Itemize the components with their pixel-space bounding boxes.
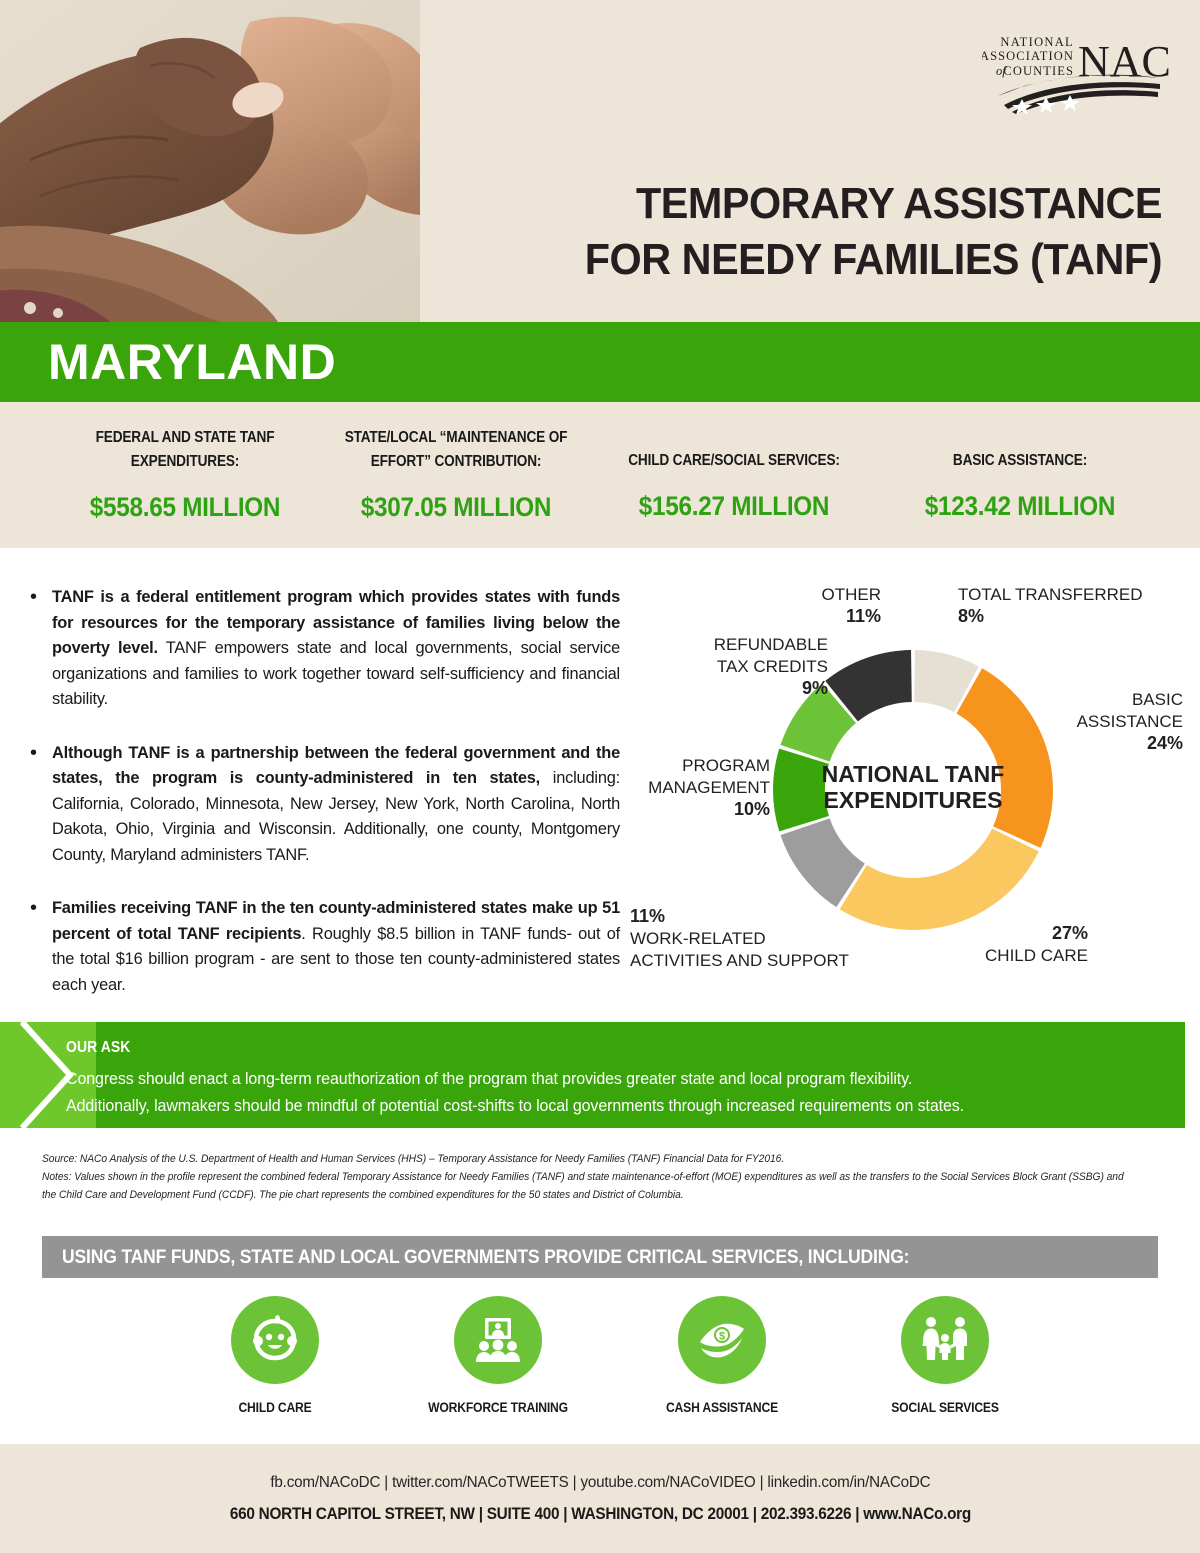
service-icon-circle: $	[678, 1296, 766, 1384]
source-notes: Source: NACo Analysis of the U.S. Depart…	[42, 1150, 1128, 1205]
donut-label-name: BASIC	[1132, 690, 1183, 709]
bullet-dot-icon: •	[30, 585, 52, 713]
stat-label: CHILD CARE/SOCIAL SERVICES:	[616, 449, 852, 473]
stat-value: $307.05 MILLION	[334, 492, 579, 523]
stat-child-care-social-services: CHILD CARE/SOCIAL SERVICES: $156.27 MILL…	[600, 449, 868, 522]
header-photo	[0, 0, 420, 322]
baby-face-icon	[247, 1312, 303, 1368]
bullet-bold: Although TANF is a partnership between t…	[52, 744, 620, 788]
donut-label-pct: 9%	[802, 678, 828, 698]
donut-label-pct: 27%	[1052, 923, 1088, 943]
services-heading: USING TANF FUNDS, STATE AND LOCAL GOVERN…	[62, 1246, 909, 1269]
our-ask-banner: OUR ASK Congress should enact a long-ter…	[0, 1022, 1185, 1128]
svg-text:$: $	[719, 1331, 725, 1343]
page-title-line2: FOR NEEDY FAMILIES (TANF)	[436, 232, 1162, 288]
service-child-care: CHILD CARE	[180, 1296, 370, 1416]
state-banner: MARYLAND	[0, 322, 1200, 402]
stat-value: $123.42 MILLION	[903, 491, 1137, 522]
donut-label-pct: 11%	[630, 906, 665, 926]
footer: fb.com/NACoDC | twitter.com/NACoTWEETS |…	[0, 1444, 1200, 1553]
donut-label-name: ACTIVITIES AND SUPPORT	[630, 951, 849, 970]
services-heading-bar: USING TANF FUNDS, STATE AND LOCAL GOVERN…	[42, 1236, 1158, 1278]
donut-center-line2: EXPENDITURES	[824, 787, 1003, 813]
service-workforce-training: WORKFORCE TRAINING	[403, 1296, 593, 1416]
donut-label-name: CHILD CARE	[985, 946, 1088, 965]
footer-address: 660 NORTH CAPITOL STREET, NW | SUITE 400…	[229, 1505, 970, 1524]
service-icon-circle	[901, 1296, 989, 1384]
donut-label-name: ASSISTANCE	[1077, 712, 1183, 731]
donut-label-name: TOTAL TRANSFERRED	[958, 585, 1143, 604]
svg-text:COUNTIES: COUNTIES	[1003, 64, 1074, 78]
bullet-dot-icon: •	[30, 741, 52, 869]
notes-line: Notes: Values shown in the profile repre…	[42, 1168, 1128, 1204]
bullet-text: Although TANF is a partnership between t…	[52, 741, 620, 869]
our-ask-content: OUR ASK Congress should enact a long-ter…	[66, 1039, 1171, 1119]
infographic-page: NATIONAL ASSOCIATION of COUNTIES NACo TE…	[0, 0, 1200, 1553]
stat-label: STATE/LOCAL “MAINTENANCE OF EFFORT” CONT…	[336, 426, 575, 474]
our-ask-title: OUR ASK	[66, 1039, 1061, 1057]
stat-federal-state-expenditures: FEDERAL AND STATE TANF EXPENDITURES: $55…	[60, 426, 310, 523]
stat-moe-contribution: STATE/LOCAL “MAINTENANCE OF EFFORT” CONT…	[320, 426, 592, 523]
svg-text:NACo: NACo	[1078, 37, 1172, 86]
list-item: • TANF is a federal entitlement program …	[30, 585, 620, 713]
dollar-bills-icon: $	[694, 1312, 750, 1368]
service-label: SOCIAL SERVICES	[859, 1400, 1030, 1415]
service-cash-assistance: $ CASH ASSISTANCE	[627, 1296, 817, 1416]
bullet-list: • TANF is a federal entitlement program …	[30, 585, 620, 1026]
stat-basic-assistance: BASIC ASSISTANCE: $123.42 MILLION	[890, 449, 1150, 522]
stats-strip: FEDERAL AND STATE TANF EXPENDITURES: $55…	[0, 402, 1200, 548]
donut-label-pct: 8%	[958, 606, 984, 626]
donut-center-line1: NATIONAL TANF	[822, 761, 1005, 787]
bullet-dot-icon: •	[30, 896, 52, 998]
service-icon-circle	[454, 1296, 542, 1384]
donut-label-name: REFUNDABLE	[714, 635, 828, 654]
svg-text:ASSOCIATION: ASSOCIATION	[982, 49, 1074, 63]
source-line: Source: NACo Analysis of the U.S. Depart…	[42, 1150, 1128, 1168]
stat-label: FEDERAL AND STATE TANF EXPENDITURES:	[75, 426, 295, 474]
donut-label-pct: 24%	[1147, 733, 1183, 753]
state-name: MARYLAND	[48, 333, 336, 391]
donut-label-name: MANAGEMENT	[648, 778, 770, 797]
bullet-text: TANF is a federal entitlement program wh…	[52, 585, 620, 713]
footer-social-links[interactable]: fb.com/NACoDC | twitter.com/NACoTWEETS |…	[270, 1474, 930, 1492]
donut-segment	[840, 829, 1039, 930]
national-tanf-expenditures-donut-chart: NATIONAL TANF EXPENDITURES TOTAL TRANSFE…	[628, 575, 1188, 990]
donut-label-pct: 10%	[734, 799, 770, 819]
family-icon	[918, 1313, 972, 1367]
header: NATIONAL ASSOCIATION of COUNTIES NACo TE…	[0, 0, 1200, 322]
donut-label-pct: 11%	[846, 606, 881, 626]
service-label: WORKFORCE TRAINING	[413, 1400, 584, 1415]
service-label: CASH ASSISTANCE	[636, 1400, 807, 1415]
donut-label-name: TAX CREDITS	[717, 657, 828, 676]
services-row: CHILD CARE WORKFORCE TRAINING	[180, 1296, 1040, 1416]
page-title-line1: TEMPORARY ASSISTANCE	[636, 179, 1162, 228]
stat-value: $156.27 MILLION	[613, 491, 854, 522]
list-item: • Although TANF is a partnership between…	[30, 741, 620, 869]
donut-label-name: WORK-RELATED	[630, 929, 766, 948]
service-social-services: SOCIAL SERVICES	[850, 1296, 1040, 1416]
classroom-training-icon	[471, 1313, 525, 1367]
stat-label: BASIC ASSISTANCE:	[906, 449, 1135, 473]
service-icon-circle	[231, 1296, 319, 1384]
donut-label-name: PROGRAM	[682, 756, 770, 775]
stat-value: $558.65 MILLION	[73, 492, 298, 523]
donut-segment	[773, 749, 829, 832]
donut-segment	[956, 668, 1053, 848]
naco-logo: NATIONAL ASSOCIATION of COUNTIES NACo	[982, 26, 1172, 114]
our-ask-line2: Additionally, lawmakers should be mindfu…	[66, 1092, 1105, 1119]
page-title: TEMPORARY ASSISTANCE FOR NEEDY FAMILIES …	[436, 176, 1162, 288]
svg-text:NATIONAL: NATIONAL	[1000, 35, 1074, 49]
service-label: CHILD CARE	[190, 1400, 361, 1415]
our-ask-line1: Congress should enact a long-term reauth…	[66, 1065, 1105, 1092]
donut-label-name: OTHER	[822, 585, 882, 604]
bullet-text: Families receiving TANF in the ten count…	[52, 896, 620, 998]
list-item: • Families receiving TANF in the ten cou…	[30, 896, 620, 998]
